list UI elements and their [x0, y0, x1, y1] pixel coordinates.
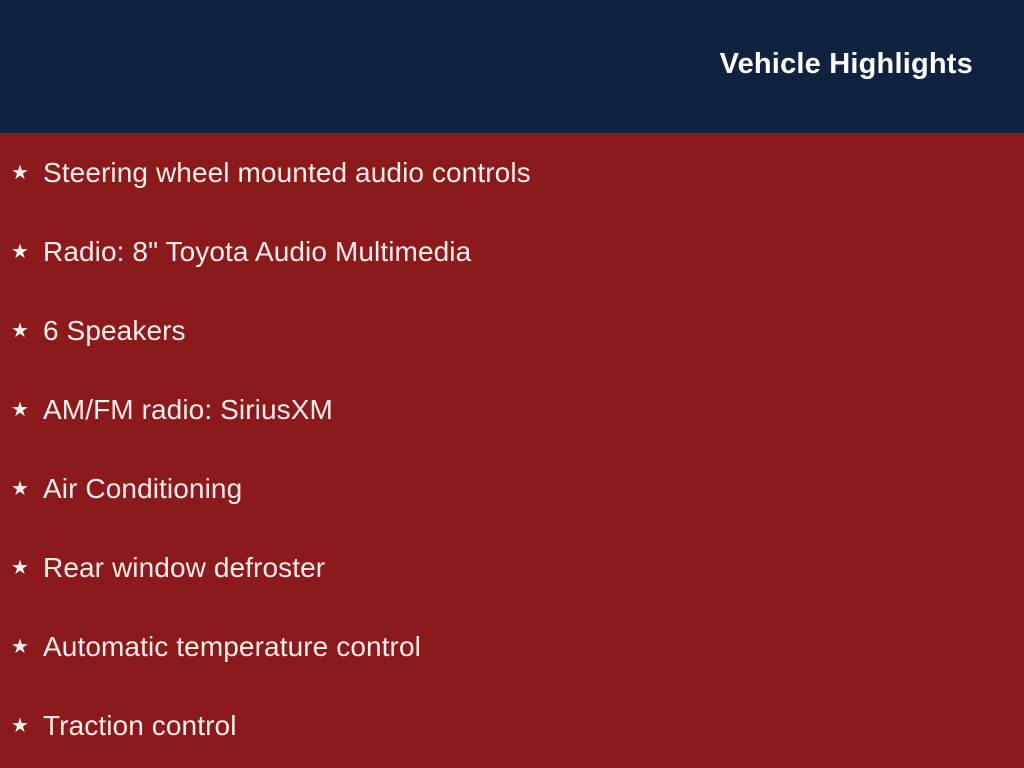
star-bullet-icon: ★ — [11, 242, 33, 262]
star-bullet-icon: ★ — [11, 321, 33, 341]
star-bullet-icon: ★ — [11, 163, 33, 183]
list-item: ★ AM/FM radio: SiriusXM — [0, 370, 1024, 449]
list-item-label: Radio: 8" Toyota Audio Multimedia — [43, 235, 471, 269]
list-item-label: Traction control — [43, 709, 237, 743]
list-item-label: Air Conditioning — [43, 472, 242, 506]
list-item: ★ Steering wheel mounted audio controls — [0, 133, 1024, 212]
list-item: ★ Rear window defroster — [0, 528, 1024, 607]
list-item-label: AM/FM radio: SiriusXM — [43, 393, 333, 427]
star-bullet-icon: ★ — [11, 479, 33, 499]
list-item-label: 6 Speakers — [43, 314, 186, 348]
list-item-label: Rear window defroster — [43, 551, 325, 585]
list-item: ★ Automatic temperature control — [0, 607, 1024, 686]
star-bullet-icon: ★ — [11, 637, 33, 657]
star-bullet-icon: ★ — [11, 558, 33, 578]
list-item: ★ Radio: 8" Toyota Audio Multimedia — [0, 212, 1024, 291]
list-item: ★ Traction control — [0, 686, 1024, 765]
vehicle-highlights-list: ★ Steering wheel mounted audio controls … — [0, 133, 1024, 765]
list-item-label: Steering wheel mounted audio controls — [43, 156, 531, 190]
list-item: ★ Air Conditioning — [0, 449, 1024, 528]
page-title: Vehicle Highlights — [720, 47, 973, 81]
vehicle-highlights-slide: Vehicle Highlights ★ Steering wheel moun… — [0, 0, 1024, 768]
list-item: ★ 6 Speakers — [0, 291, 1024, 370]
star-bullet-icon: ★ — [11, 400, 33, 420]
star-bullet-icon: ★ — [11, 716, 33, 736]
list-item-label: Automatic temperature control — [43, 630, 421, 664]
slide-header-bar: Vehicle Highlights — [0, 0, 1024, 133]
